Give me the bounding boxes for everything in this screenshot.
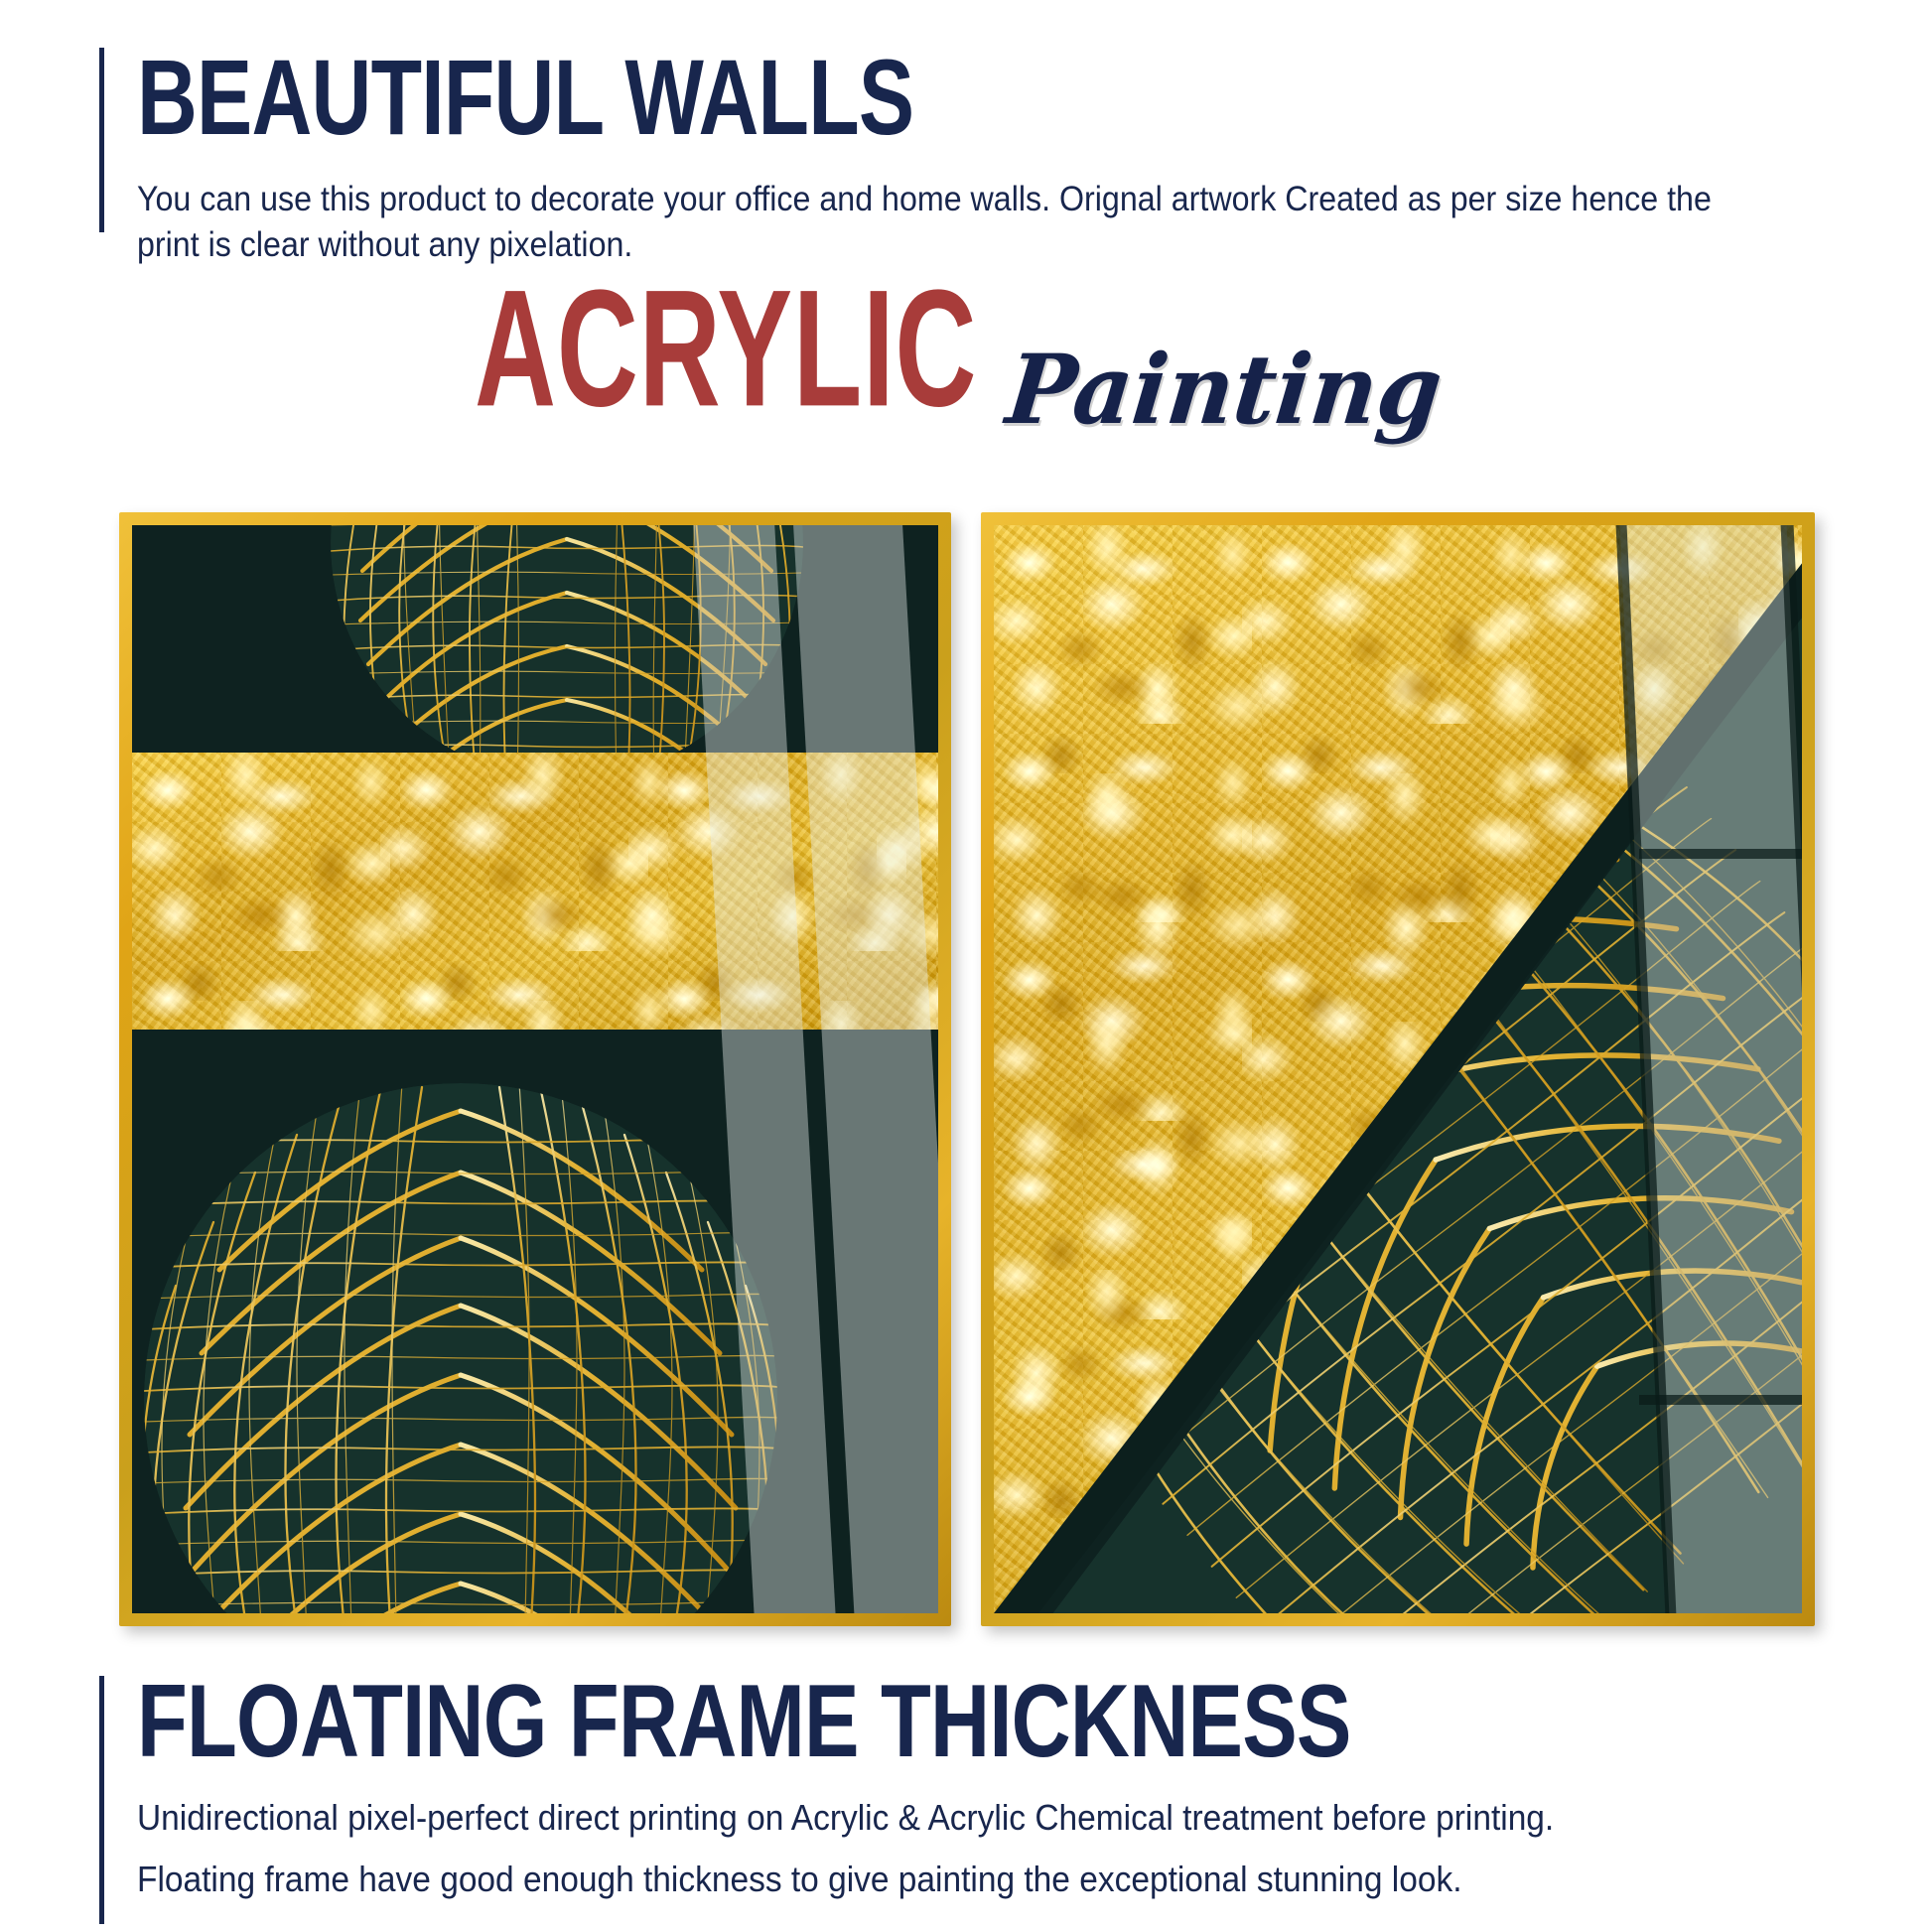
artwork-canvas-left [132,525,938,1613]
bottom-description: Unidirectional pixel-perfect direct prin… [137,1787,1790,1910]
artwork-frame-left[interactable] [119,512,951,1626]
artwork-frame-right[interactable] [981,512,1815,1626]
top-leaf-circle-cropped [329,525,805,781]
product-banner: BEAUTIFUL WALLS You can use this product… [0,0,1932,1932]
product-title-block: ACRYLIC Painting [0,280,1932,479]
left-accent-rule [99,48,104,232]
top-description: You can use this product to decorate you… [137,177,1744,268]
gold-foil-band [132,753,938,1030]
bottom-description-line-2: Floating frame have good enough thicknes… [137,1849,1790,1910]
bottom-title: FLOATING FRAME THICKNESS [137,1670,1351,1773]
product-title-main: ACRYLIC [475,266,977,433]
page-title: BEAUTIFUL WALLS [137,44,913,151]
artwork-canvas-right [994,525,1802,1613]
large-leaf-lower-right [994,543,1802,1613]
bottom-description-line-1: Unidirectional pixel-perfect direct prin… [137,1787,1790,1849]
product-title-script: Painting [1003,342,1447,438]
bottom-accent-rule [99,1676,104,1924]
bottom-leaf-circle [142,1081,779,1613]
